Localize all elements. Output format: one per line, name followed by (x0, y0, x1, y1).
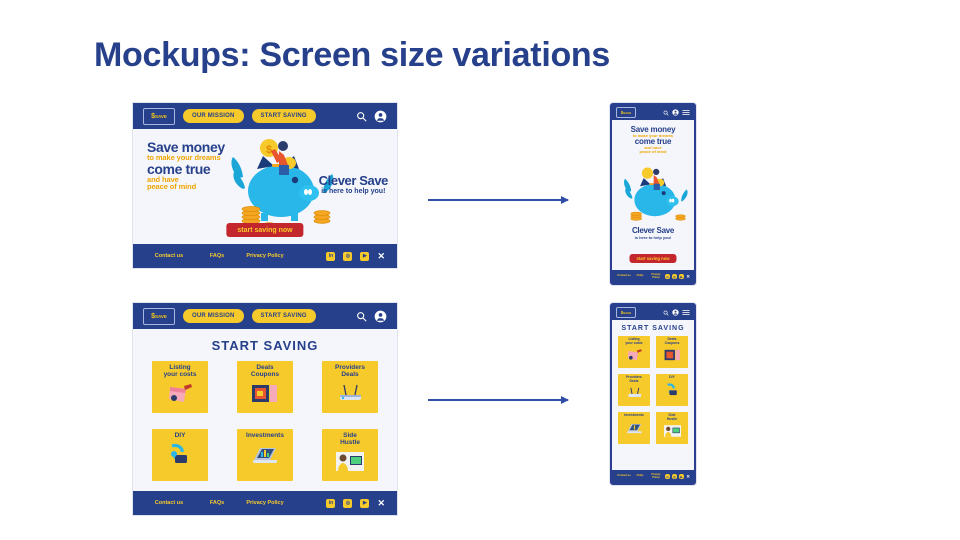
slide-canvas: Mockups: Screen size variations $SAVE OU… (0, 0, 960, 540)
footer-social-group: in ◎ ▶ ✕ (665, 274, 690, 280)
card-deals-coupons[interactable]: DealsCoupons (237, 361, 293, 413)
card-label-line1: DIY (669, 375, 675, 379)
card-side-hustle[interactable]: SideHustle (656, 412, 688, 444)
card-listing-your-costs[interactable]: Listingyour costs (618, 336, 650, 368)
hero-side-subtitle: is here to help you! (319, 188, 388, 195)
hero-line-5: peace of mind (147, 183, 225, 191)
arrow-homepage-to-mobile (428, 199, 568, 201)
account-icon[interactable] (374, 310, 387, 323)
footer-link-privacy-policy[interactable]: Privacy Policy (241, 253, 289, 259)
footer-link-privacy-policy[interactable]: Privacy Policy (648, 274, 664, 280)
hero-line-3: come true (147, 162, 225, 176)
brand-logo[interactable]: $SAVE (143, 308, 175, 325)
logo-word: SAVE (623, 111, 631, 115)
footer-link-faqs[interactable]: FAQs (193, 500, 241, 506)
card-investments[interactable]: Investments (618, 412, 650, 444)
footer-link-privacy-policy[interactable]: Privacy Policy (648, 474, 664, 480)
card-label-line1: Investments (246, 432, 284, 439)
card-label-line2: Coupons (665, 341, 680, 345)
card-deals-coupons[interactable]: DealsCoupons (656, 336, 688, 368)
desktop-footer: Contact us FAQs Privacy Policy in ◎ ▶ ✕ (133, 244, 397, 268)
desktop-hero: Save money to make your dreams come true… (133, 129, 397, 244)
card-label-line2: Coupons (251, 371, 279, 378)
person-computer-illustration (663, 424, 682, 438)
router-device-illustration (625, 386, 644, 400)
hamburger-menu-icon[interactable] (682, 109, 690, 116)
desktop-navbar: $SAVE OUR MISSION START SAVING (133, 303, 397, 329)
desktop-start-saving-body: START SAVING Listingyour costs DealsCoup… (133, 329, 397, 491)
brand-logo[interactable]: $SAVE (616, 307, 636, 318)
laptop-chart-illustration (625, 421, 644, 435)
laptop-chart-illustration (250, 443, 280, 466)
person-computer-illustration (335, 450, 365, 473)
logo-word: SAVE (623, 311, 631, 315)
account-icon[interactable] (374, 110, 387, 123)
coupon-ticket-illustration (250, 382, 280, 405)
desktop-navbar: $SAVE OUR MISSION START SAVING (133, 103, 397, 129)
mobile-hero: Save money to make your dreams come true… (612, 120, 694, 270)
hero-line-5: peace of mind (612, 150, 694, 154)
linkedin-icon[interactable]: in (326, 499, 335, 508)
brand-logo[interactable]: $SAVE (616, 107, 636, 118)
footer-link-contact-us[interactable]: Contact us (145, 253, 193, 259)
hero-side-title: Clever Save (612, 226, 694, 235)
mobile-nav-icon-group (663, 309, 690, 316)
hamburger-menu-icon[interactable] (682, 309, 690, 316)
search-icon[interactable] (356, 111, 367, 122)
x-twitter-icon[interactable]: ✕ (686, 474, 690, 480)
card-investments[interactable]: Investments (237, 429, 293, 481)
logo-word: SAVE (155, 314, 167, 319)
linkedin-icon[interactable]: in (665, 474, 670, 479)
card-side-hustle[interactable]: SideHustle (322, 429, 378, 481)
brand-logo[interactable]: $SAVE (143, 108, 175, 125)
youtube-icon[interactable]: ▶ (679, 274, 684, 279)
footer-link-faqs[interactable]: FAQs (193, 253, 241, 259)
card-label-line2: your costs (625, 341, 642, 345)
logo-word: SAVE (155, 114, 167, 119)
instagram-icon[interactable]: ◎ (672, 474, 677, 479)
card-providers-deals[interactable]: ProvidersDeals (322, 361, 378, 413)
hero-side-message: Clever Save is here to help you! (319, 173, 388, 195)
section-title: START SAVING (612, 320, 694, 335)
instagram-icon[interactable]: ◎ (343, 252, 352, 261)
card-label-line2: Hustle (340, 439, 360, 446)
account-icon[interactable] (672, 109, 679, 116)
hero-headline: Save money to make your dreams come true… (612, 120, 694, 154)
mobile-footer: Contact us FAQs Privacy Policy in ◎ ▶ ✕ (612, 270, 694, 283)
mobile-nav-icon-group (663, 109, 690, 116)
toolbox-illustration (663, 383, 682, 397)
hero-side-subtitle: is here to help you! (612, 235, 694, 240)
footer-link-faqs[interactable]: FAQs (632, 475, 648, 478)
desktop-start-saving-mockup: $SAVE OUR MISSION START SAVING START SAV… (133, 303, 397, 515)
card-label-line2: your costs (164, 371, 197, 378)
x-twitter-icon[interactable]: ✕ (377, 498, 385, 509)
linkedin-icon[interactable]: in (665, 274, 670, 279)
mobile-homepage-mockup: $SAVE (610, 103, 696, 285)
hero-line-1: Save money (147, 140, 225, 154)
footer-social-group: in ◎ ▶ ✕ (326, 251, 385, 262)
footer-link-faqs[interactable]: FAQs (632, 275, 648, 278)
linkedin-icon[interactable]: in (326, 252, 335, 261)
nav-button-our-mission[interactable]: OUR MISSION (183, 309, 244, 323)
card-providers-deals[interactable]: ProvidersDeals (618, 374, 650, 406)
card-label-line1: Investments (624, 413, 644, 417)
start-saving-card-grid: Listingyour costs DealsCoupons (612, 335, 694, 448)
card-label-line1: DIY (175, 432, 186, 439)
youtube-icon[interactable]: ▶ (360, 252, 369, 261)
youtube-icon[interactable]: ▶ (679, 474, 684, 479)
footer-link-contact-us[interactable]: Contact us (616, 275, 632, 278)
desktop-homepage-mockup: $SAVE OUR MISSION START SAVING Save mone… (133, 103, 397, 268)
arrow-startsaving-to-mobile (428, 399, 568, 401)
mobile-footer: Contact us FAQs Privacy Policy in ◎ ▶ ✕ (612, 470, 694, 483)
card-label-line2: Deals (629, 379, 638, 383)
toolbox-illustration (165, 443, 195, 466)
instagram-icon[interactable]: ◎ (672, 274, 677, 279)
nav-button-start-saving[interactable]: START SAVING (252, 109, 316, 123)
router-device-illustration (335, 382, 365, 405)
card-label-line2: Hustle (667, 417, 677, 421)
mobile-navbar: $SAVE (612, 305, 694, 320)
coupon-ticket-illustration (663, 348, 682, 362)
piggy-bank-illustration (615, 162, 693, 228)
footer-social-group: in ◎ ▶ ✕ (326, 498, 385, 509)
hero-side-message: Clever Save is here to help you! (612, 226, 694, 240)
x-twitter-icon[interactable]: ✕ (377, 251, 385, 262)
start-saving-now-button[interactable]: start saving now (226, 223, 303, 237)
search-icon[interactable] (356, 311, 367, 322)
account-icon[interactable] (672, 309, 679, 316)
hero-headline: Save money to make your dreams come true… (147, 140, 225, 191)
nav-button-start-saving[interactable]: START SAVING (252, 309, 316, 323)
search-icon[interactable] (663, 310, 669, 316)
card-diy[interactable]: DIY (152, 429, 208, 481)
card-diy[interactable]: DIY (656, 374, 688, 406)
nav-icon-group (356, 310, 387, 323)
mobile-start-saving-body: START SAVING Listingyour costs DealsCoup… (612, 320, 694, 470)
start-saving-now-button[interactable]: start saving now (629, 254, 676, 263)
page-title: Mockups: Screen size variations (94, 36, 610, 75)
card-label-line2: Deals (341, 371, 358, 378)
notebook-pen-illustration (165, 382, 195, 405)
desktop-footer: Contact us FAQs Privacy Policy in ◎ ▶ ✕ (133, 491, 397, 515)
start-saving-card-grid: Listingyour costs DealsCoupons (133, 359, 397, 491)
x-twitter-icon[interactable]: ✕ (686, 274, 690, 280)
svg-text:$: $ (266, 144, 272, 156)
mobile-start-saving-mockup: $SAVE START S (610, 303, 696, 485)
notebook-pen-illustration (625, 348, 644, 362)
footer-link-contact-us[interactable]: Contact us (616, 475, 632, 478)
footer-social-group: in ◎ ▶ ✕ (665, 474, 690, 480)
nav-button-our-mission[interactable]: OUR MISSION (183, 109, 244, 123)
search-icon[interactable] (663, 110, 669, 116)
nav-icon-group (356, 110, 387, 123)
youtube-icon[interactable]: ▶ (360, 499, 369, 508)
mobile-navbar: $SAVE (612, 105, 694, 120)
footer-link-privacy-policy[interactable]: Privacy Policy (241, 500, 289, 506)
instagram-icon[interactable]: ◎ (343, 499, 352, 508)
footer-link-contact-us[interactable]: Contact us (145, 500, 193, 506)
hero-side-title: Clever Save (319, 173, 388, 188)
card-listing-your-costs[interactable]: Listingyour costs (152, 361, 208, 413)
section-title: START SAVING (133, 329, 397, 359)
